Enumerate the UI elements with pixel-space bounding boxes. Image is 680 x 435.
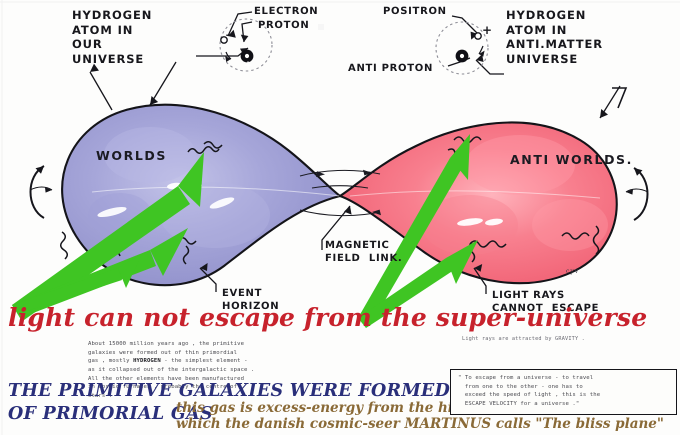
label-electron: ELECTRON [254, 6, 318, 19]
label-hydrogen-atom-antimatter-universe: HYDROGEN ATOM IN ANTI.MATTER UNIVERSE [506, 8, 603, 67]
label-magnetic-field-link: MAGNETIC FIELD LINK. [325, 240, 402, 266]
positron-charge-sign: + [482, 23, 493, 38]
artist-signature: cyv [566, 268, 579, 275]
label-positron: POSITRON [383, 6, 447, 19]
caption-primitive-galaxies-line1: THE PRIMITIVE GALAXIES WERE FORMED OUT [8, 381, 501, 401]
spin-arrow-left [30, 166, 52, 218]
label-proton: PROTON [258, 20, 309, 33]
label-anti-worlds: ANTI WORLDS. [510, 152, 633, 167]
escape-velocity-quote-text: " To escape from a universe - to travel … [458, 374, 670, 409]
spin-arrow-right [626, 168, 648, 220]
escape-velocity-quote-box: " To escape from a universe - to travel … [450, 369, 677, 415]
proton-charge-sign: + [243, 58, 254, 73]
label-hydrogen-atom-our-universe: HYDROGEN ATOM IN OUR UNIVERSE [72, 8, 152, 67]
headline-light-cannot-escape: light can not escape from the super-univ… [8, 303, 647, 332]
note-gravity-attracts-light: Light rays are attracted by GRAVITY . [462, 336, 585, 342]
anti-proton-charge-sign: − [456, 60, 467, 75]
caption-martinus-bliss-plane: which the danish cosmic-seer MARTINUS ca… [176, 416, 664, 432]
figure-canvas: HYDROGEN ATOM IN OUR UNIVERSE ELECTRON P… [0, 0, 680, 435]
electron-charge-sign: − [225, 28, 236, 43]
label-worlds: WORLDS [96, 148, 167, 163]
label-anti-proton: ANTI PROTON [348, 63, 433, 76]
